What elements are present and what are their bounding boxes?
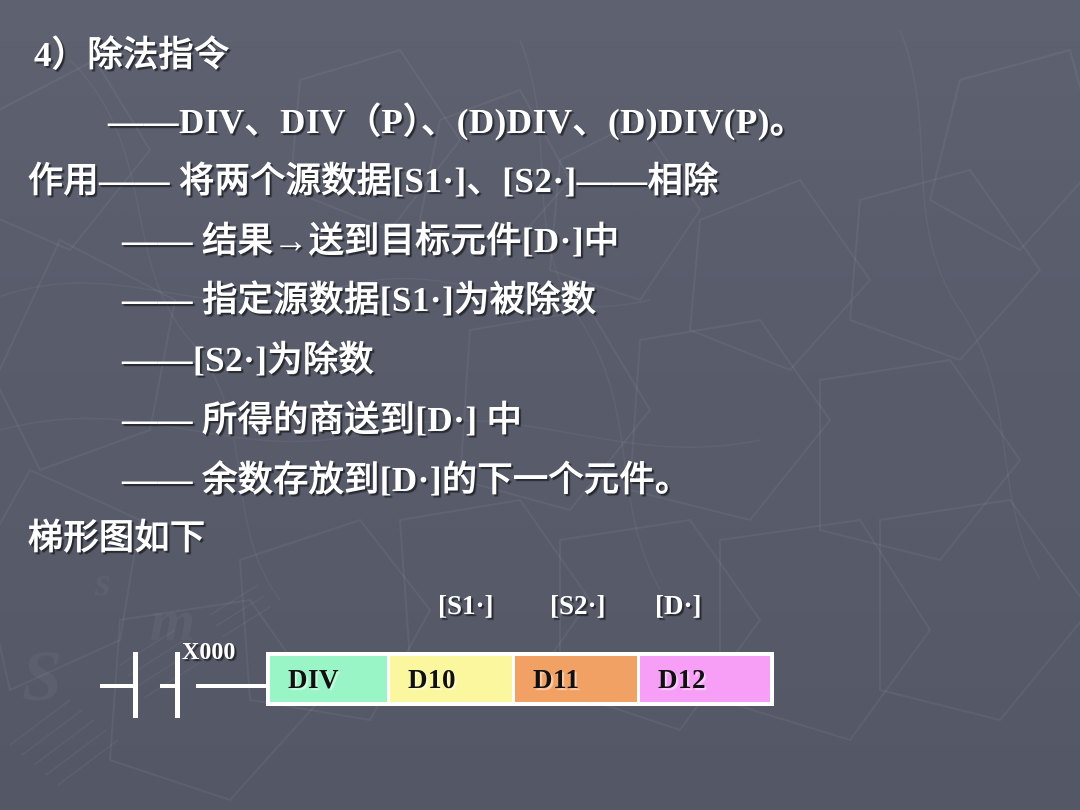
ladder-wire-left: [100, 684, 135, 688]
ladder-wire-middle: [160, 684, 176, 688]
detail-line-dividend: —— 指定源数据[S1·]为被除数: [122, 271, 596, 322]
contact-label-x000: X000: [182, 639, 235, 666]
instruction-cell-div-text: DIV: [270, 664, 339, 695]
ladder-wire-right: [196, 684, 266, 688]
instruction-cell-d12-text: D12: [640, 664, 706, 695]
slide-title: 4）除法指令: [34, 26, 230, 77]
detail-line-remainder: —— 余数存放到[D·]的下一个元件。: [122, 451, 691, 502]
contact-bar-left: [133, 652, 138, 718]
instruction-cell-div: DIV: [270, 656, 390, 702]
operand-label-d: [D·]: [655, 590, 702, 621]
instruction-cell-d12: D12: [640, 656, 770, 702]
operand-label-s2: [S2·]: [550, 590, 606, 621]
presentation-slide: S m s 4）除法指令 ——DIV、DIV（P）、(D)DIV、(D)DIV(…: [0, 0, 1080, 810]
ladder-caption: 梯形图如下: [28, 509, 206, 560]
instruction-cell-d11-text: D11: [515, 664, 580, 695]
ladder-diagram: [S1·] [S2·] [D·] X000 DIV D10 D11 D12: [0, 590, 1080, 730]
instruction-cell-d11: D11: [515, 656, 640, 702]
detail-line-divisor: ——[S2·]为除数: [122, 331, 374, 382]
operand-label-row: [S1·] [S2·] [D·]: [430, 590, 790, 630]
detail-line-quotient: —— 所得的商送到[D·] 中: [122, 391, 522, 442]
instruction-block: DIV D10 D11 D12: [266, 652, 774, 706]
contact-bar-right: [175, 652, 180, 718]
detail-line-result: —— 结果→送到目标元件[D·]中: [122, 212, 620, 263]
instruction-cell-d10-text: D10: [390, 664, 456, 695]
operand-label-s1: [S1·]: [438, 590, 494, 621]
instruction-cell-d10: D10: [390, 656, 515, 702]
instruction-mnemonics-line: ——DIV、DIV（P）、(D)DIV、(D)DIV(P)。: [108, 93, 805, 144]
function-line: 作用—— 将两个源数据[S1·]、[S2·]——相除: [28, 152, 719, 203]
